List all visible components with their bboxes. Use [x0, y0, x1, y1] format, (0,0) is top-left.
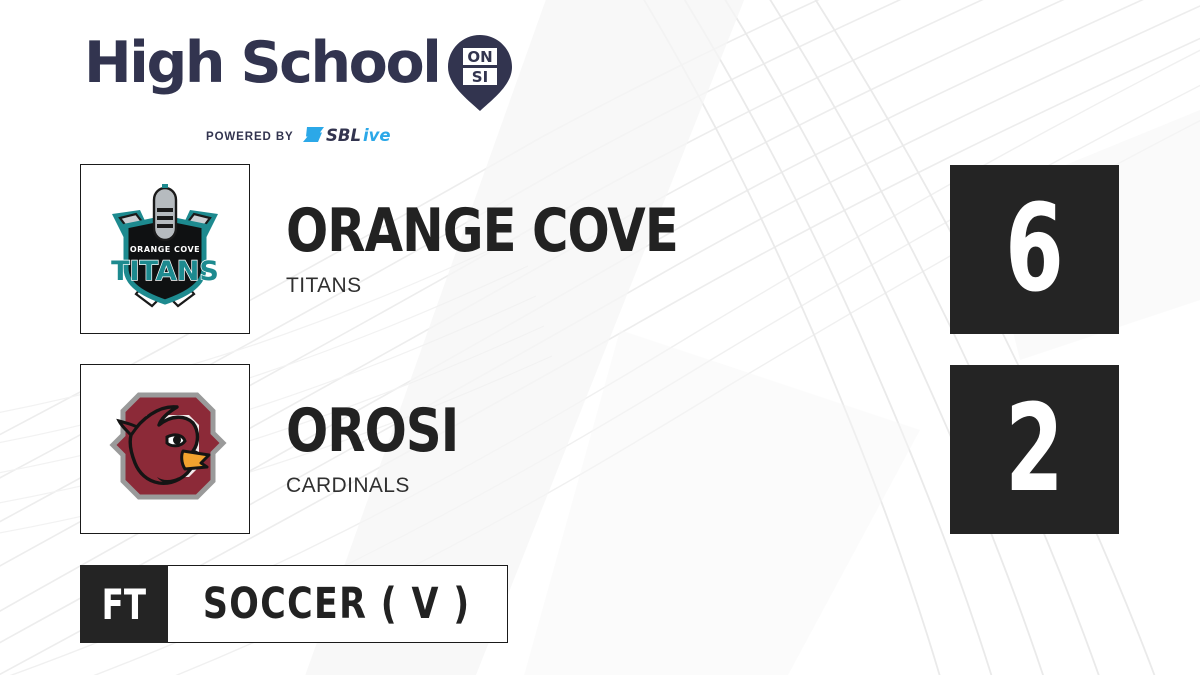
on-si-pin-bottom-label: SI	[472, 68, 488, 86]
sblive-logo: SBL ive	[303, 124, 399, 150]
team-logo-top-text: ORANGE COVE	[130, 245, 200, 254]
team-logo-box	[80, 364, 250, 534]
orosi-cardinals-logo	[101, 385, 229, 513]
powered-by-row: POWERED BY SBL ive	[206, 124, 514, 150]
status-code-badge: FT	[80, 565, 168, 643]
team-text-block: ORANGE COVE TITANS	[286, 164, 712, 334]
game-status-bar: FT SOCCER ( V )	[80, 565, 508, 643]
team-logo-main-text: TITANS	[111, 256, 219, 287]
team-score-box: 2	[950, 365, 1119, 534]
brand-wordmark: High School	[84, 36, 439, 90]
sport-label-panel: SOCCER ( V )	[168, 565, 508, 643]
status-code-label: FT	[102, 580, 146, 629]
sport-label: SOCCER ( V )	[203, 579, 471, 629]
team-score: 6	[1006, 190, 1064, 310]
team-score: 2	[1006, 390, 1064, 510]
team-score-box: 6	[950, 165, 1119, 334]
team-logo-box: ORANGE COVE TITANS	[80, 164, 250, 334]
team-mascot: TITANS	[286, 274, 712, 298]
orange-cove-titans-logo: ORANGE COVE TITANS	[100, 184, 230, 314]
team-mascot: CARDINALS	[286, 474, 473, 498]
team-text-block: OROSI CARDINALS	[286, 364, 473, 534]
powered-by-label: POWERED BY	[206, 131, 294, 143]
brand-header: High School ON SI POWERED BY SBL ive	[84, 36, 514, 150]
on-si-pin-icon: ON SI	[447, 33, 513, 118]
sblive-dark-text: SBL	[326, 126, 361, 145]
team-name: ORANGE COVE	[286, 201, 678, 261]
team-row: ORANGE COVE TITANS ORANGE COVE TITANS 6	[80, 164, 1120, 334]
sblive-accent-text: ive	[363, 126, 391, 145]
team-name: OROSI	[286, 401, 458, 461]
team-row: OROSI CARDINALS 2	[80, 364, 1120, 534]
on-si-pin-top-label: ON	[468, 48, 493, 66]
